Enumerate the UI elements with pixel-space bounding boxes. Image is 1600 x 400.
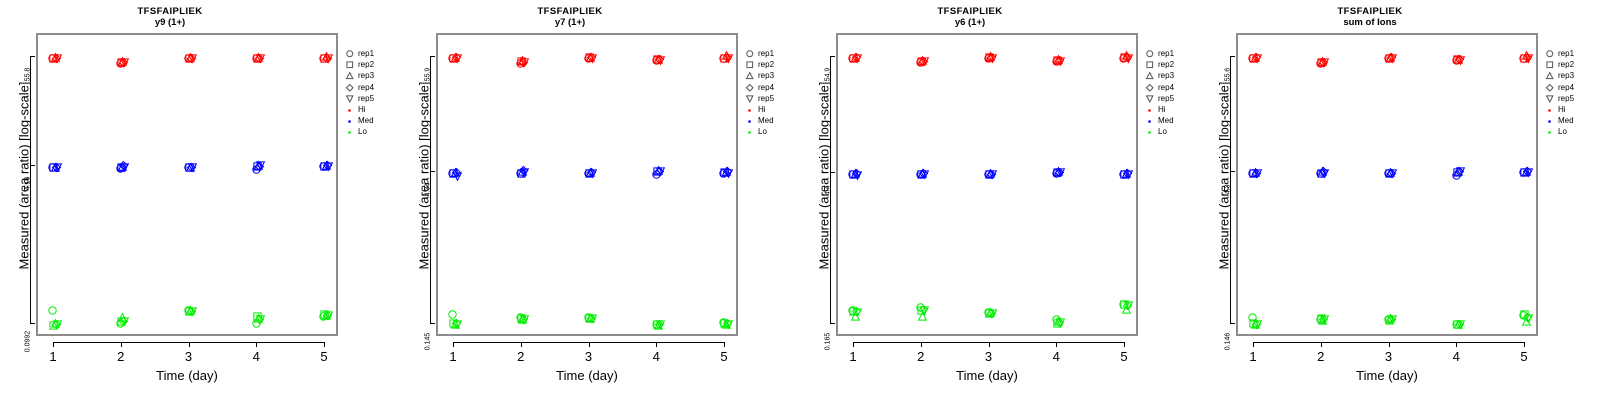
data-point [1248,313,1257,322]
data-point [588,54,597,63]
legend-label: rep3 [356,70,374,81]
data-point [585,53,594,62]
data-point [1122,169,1131,178]
data-point [451,168,460,177]
data-point [1388,54,1397,63]
x-tick-label: 5 [1514,349,1534,364]
panel-1: TFSFAIPLIEKy9 (1+)Measured (area ratio) … [0,0,400,400]
data-point [451,53,460,62]
panel-title: TFSFAIPLIEK [800,6,1140,17]
data-point [188,54,197,63]
data-point [1251,168,1260,177]
legend-item-med[interactable]: Med [344,115,398,126]
data-point [118,313,127,322]
data-point [1119,54,1128,63]
legend-item-med[interactable]: Med [1544,115,1598,126]
data-point [724,54,733,63]
legend-item-lo[interactable]: Lo [1144,126,1198,137]
legend-item-med[interactable]: Med [1144,115,1198,126]
data-point [1054,317,1063,326]
legend-item-rep1[interactable]: rep1 [1144,48,1198,59]
legend-label: Med [756,115,774,126]
data-point [1456,167,1465,176]
x-tick-mark [256,342,257,347]
data-point [188,163,197,172]
dot-icon [744,104,756,115]
data-point [1124,301,1133,310]
legend-label: Hi [1156,104,1166,115]
x-tick-mark [189,342,190,347]
legend-item-hi[interactable]: Hi [1144,104,1198,115]
data-point [1452,56,1461,65]
panel-title: TFSFAIPLIEK [400,6,740,17]
data-point [851,169,860,178]
legend-label: Lo [356,126,367,137]
data-point [48,54,57,63]
data-point [985,170,994,179]
data-point [849,54,858,63]
legend-label: rep1 [356,48,374,59]
legend-item-rep2[interactable]: rep2 [1144,59,1198,70]
data-point [453,172,462,181]
data-point [652,320,661,329]
square-icon [1144,59,1156,70]
legend-item-rep4[interactable]: rep4 [344,82,398,93]
data-point [920,57,929,66]
y-tick-label: 0.0992 [25,322,32,362]
data-point [116,319,125,328]
legend-label: rep3 [1156,70,1174,81]
data-point [449,319,458,328]
data-point [1316,315,1325,324]
data-point [723,53,732,62]
data-point [652,170,661,179]
legend-label: rep5 [356,93,374,104]
data-point [1123,53,1132,62]
data-point [186,163,195,172]
data-point [723,319,732,328]
dot-icon [1544,115,1556,126]
data-point [453,320,462,329]
legend-label: Med [1156,115,1174,126]
dot-icon [1144,115,1156,126]
data-point [919,57,928,66]
data-point [1519,54,1528,63]
x-axis-label: Time (day) [1236,368,1538,383]
x-tick-label: 1 [1243,349,1263,364]
data-point [654,55,663,64]
legend-item-rep4[interactable]: rep4 [1544,82,1598,93]
data-point [322,161,331,170]
data-point [1385,169,1394,178]
legend-label: Med [356,115,374,126]
data-point [519,166,528,175]
data-point [49,163,58,172]
legend-label: rep5 [1556,93,1574,104]
data-point [116,164,125,173]
data-point [916,58,925,67]
data-point [187,163,196,172]
data-point [1455,320,1464,329]
y-tick-label: 55.6 [1225,55,1232,95]
x-axis-label: Time (day) [36,368,338,383]
data-point [184,54,193,63]
data-point [984,54,993,63]
data-point [1052,169,1061,178]
x-tick-mark [53,342,54,347]
data-point [518,315,527,324]
legend: rep1rep2rep3rep4rep5HiMedLo [1544,48,1598,138]
data-point [517,57,526,66]
x-tick-mark [1253,342,1254,347]
data-point [722,51,731,60]
data-point [654,321,663,330]
legend-item-rep3[interactable]: rep3 [1544,70,1598,81]
data-point [851,312,860,321]
data-point [324,162,333,171]
data-point [252,319,261,328]
data-point [48,163,57,172]
x-tick-label: 1 [43,349,63,364]
data-point [319,162,328,171]
data-point [1453,168,1462,177]
x-tick-label: 1 [443,349,463,364]
data-point [920,306,929,315]
data-point [1387,53,1396,62]
data-point [255,54,264,63]
data-point [852,307,861,316]
circle-icon [1144,48,1156,59]
data-point [1055,168,1064,177]
data-point [1122,51,1131,60]
legend-item-rep3[interactable]: rep3 [1144,70,1198,81]
data-point [919,305,928,314]
plot-points-layer [838,35,1136,334]
legend-label: Hi [356,104,366,115]
x-tick-label: 2 [911,349,931,364]
data-point [720,54,729,63]
data-point [656,167,665,176]
data-point [1252,53,1261,62]
plot-area [436,33,738,336]
legend-item-rep2[interactable]: rep2 [344,59,398,70]
data-point [516,59,525,68]
legend-item-rep4[interactable]: rep4 [744,82,798,93]
data-point [48,306,57,315]
dot-icon [1544,104,1556,115]
legend-item-rep5[interactable]: rep5 [1544,93,1598,104]
data-point [52,163,61,172]
x-tick-mark [589,342,590,347]
data-point [720,319,729,328]
data-point [1522,51,1531,60]
data-point [917,306,926,315]
data-point [52,54,61,63]
data-point [655,55,664,64]
data-point [1456,56,1465,65]
x-tick-mark [453,342,454,347]
diamond-icon [344,82,356,93]
plot-points-layer [38,35,336,334]
x-tick-label: 4 [1446,349,1466,364]
data-point [520,58,529,67]
legend-item-lo[interactable]: Lo [344,126,398,137]
triangle-down-icon [344,93,356,104]
data-point [987,170,996,179]
dot-icon [344,126,356,137]
panel-subtitle: y7 (1+) [400,17,740,28]
legend-label: rep5 [1156,93,1174,104]
data-point [916,303,925,312]
x-tick-label: 5 [314,349,334,364]
y-tick-label: 4.3 [1225,170,1232,210]
data-point [1524,314,1533,323]
legend-label: rep4 [1156,82,1174,93]
legend-item-rep4[interactable]: rep4 [1144,82,1198,93]
data-point [1523,53,1532,62]
data-point [1318,167,1327,176]
data-point [1124,170,1133,179]
data-point [586,168,595,177]
panel-title: TFSFAIPLIEK [1200,6,1540,17]
x-tick-mark [521,342,522,347]
data-point [1522,317,1531,326]
legend-label: Med [1556,115,1574,126]
legend-label: rep3 [1556,70,1574,81]
data-point [117,58,126,67]
data-point [985,309,994,318]
data-point [1522,167,1531,176]
data-point [1453,55,1462,64]
x-tick-mark [1321,342,1322,347]
data-point [1384,54,1393,63]
data-point [324,54,333,63]
x-tick-mark [724,342,725,347]
data-point [1387,315,1396,324]
legend-item-med[interactable]: Med [744,115,798,126]
data-point [920,170,929,179]
data-point [652,56,661,65]
data-point [519,58,528,67]
data-point [254,53,263,62]
data-point [256,315,265,324]
x-axis-label: Time (day) [436,368,738,383]
data-point [849,307,858,316]
data-point [587,168,596,177]
data-point [722,167,731,176]
legend-item-lo[interactable]: Lo [1544,126,1598,137]
data-point [1248,169,1257,178]
data-point [1519,311,1528,320]
data-point [1056,57,1065,66]
data-point [585,314,594,323]
data-point [1455,167,1464,176]
legend-item-rep5[interactable]: rep5 [344,93,398,104]
y-tick-label: 0.145 [425,322,432,362]
data-point [117,163,126,172]
data-point [1249,169,1258,178]
data-point [185,307,194,316]
data-point [588,169,597,178]
legend-item-rep1[interactable]: rep1 [344,48,398,59]
legend-label: rep1 [756,48,774,59]
legend-item-rep5[interactable]: rep5 [1144,93,1198,104]
data-point [518,167,527,176]
data-point [1053,168,1062,177]
data-point [1519,168,1528,177]
x-tick-label: 4 [246,349,266,364]
x-tick-label: 4 [1046,349,1066,364]
data-point [656,320,665,329]
data-point [724,169,733,178]
data-point [1124,54,1133,63]
data-point [984,308,993,317]
data-point [1055,56,1064,65]
data-point [453,54,462,63]
data-point [1053,319,1062,328]
data-point [322,311,331,320]
data-point [187,307,196,316]
legend-label: rep3 [756,70,774,81]
data-point [1454,167,1463,176]
data-point [1319,167,1328,176]
legend-item-rep5[interactable]: rep5 [744,93,798,104]
data-point [986,169,995,178]
y-tick-label: 0.165 [825,322,832,362]
data-point [1387,169,1396,178]
x-tick-label: 4 [646,349,666,364]
diamond-icon [1144,82,1156,93]
data-point [1249,54,1258,63]
dot-icon [1144,126,1156,137]
data-point [1056,318,1065,327]
x-tick-label: 1 [843,349,863,364]
legend-label: rep2 [1556,59,1574,70]
data-point [719,169,728,178]
data-point [986,52,995,61]
data-point [584,169,593,178]
data-point [520,168,529,177]
data-point [1056,168,1065,177]
data-point [853,54,862,63]
panel-subtitle: y9 (1+) [0,17,340,28]
data-point [1248,54,1257,63]
data-point [1523,313,1532,322]
data-point [185,54,194,63]
triangle-up-icon [744,70,756,81]
data-point [1523,167,1532,176]
legend-item-rep1[interactable]: rep1 [1544,48,1598,59]
data-point [253,54,262,63]
legend: rep1rep2rep3rep4rep5HiMedLo [344,48,398,138]
data-point [254,314,263,323]
data-point [516,169,525,178]
data-point [1384,315,1393,324]
data-point [585,169,594,178]
data-point [53,163,62,172]
data-point [587,314,596,323]
data-point [654,166,663,175]
data-point [1319,58,1328,67]
data-point [51,319,60,328]
legend-item-rep3[interactable]: rep3 [744,70,798,81]
y-tick-label: 4.4 [825,171,832,211]
data-point [1386,168,1395,177]
panel-subtitle: sum of Ions [1200,17,1540,28]
circle-icon [744,48,756,59]
data-point [323,54,332,63]
data-point [1454,55,1463,64]
data-point [119,58,128,67]
data-point [586,314,595,323]
data-point [52,320,61,329]
legend-item-rep2[interactable]: rep2 [744,59,798,70]
data-point [1455,55,1464,64]
data-point [320,54,329,63]
data-point [1252,169,1261,178]
data-point [254,161,263,170]
data-point [516,313,525,322]
data-point [256,54,265,63]
data-point [451,320,460,329]
legend-item-hi[interactable]: Hi [344,104,398,115]
x-tick-label: 5 [714,349,734,364]
legend-item-rep2[interactable]: rep2 [1544,59,1598,70]
data-point [1317,58,1326,67]
data-point [584,54,593,63]
x-tick-label: 3 [579,349,599,364]
x-tick-mark [121,342,122,347]
data-point [116,59,125,68]
legend-item-rep1[interactable]: rep1 [744,48,798,59]
panel-title: TFSFAIPLIEK [0,6,340,17]
data-point [319,312,328,321]
x-tick-mark [324,342,325,347]
data-point [449,54,458,63]
legend-item-hi[interactable]: Hi [744,104,798,115]
triangle-up-icon [344,70,356,81]
dot-icon [1544,126,1556,137]
triangle-down-icon [1544,93,1556,104]
data-point [587,53,596,62]
legend-item-hi[interactable]: Hi [1544,104,1598,115]
data-point [1251,53,1260,62]
data-point [1053,56,1062,65]
legend-item-rep3[interactable]: rep3 [344,70,398,81]
data-point [1388,315,1397,324]
data-point [517,314,526,323]
x-tick-mark [1389,342,1390,347]
data-point [584,313,593,322]
diamond-icon [1544,82,1556,93]
legend-item-lo[interactable]: Lo [744,126,798,137]
legend-label: rep1 [1156,48,1174,59]
x-tick-mark [656,342,657,347]
diamond-icon [744,82,756,93]
x-tick-label: 2 [111,349,131,364]
data-point [918,56,927,65]
data-point [655,167,664,176]
data-point [120,58,129,67]
data-point [448,169,457,178]
legend: rep1rep2rep3rep4rep5HiMedLo [1144,48,1198,138]
data-point [988,170,997,179]
data-point [1054,167,1063,176]
data-point [848,170,857,179]
data-point [53,320,62,329]
data-point [655,320,664,329]
y-tick-label: 54.9 [825,55,832,95]
